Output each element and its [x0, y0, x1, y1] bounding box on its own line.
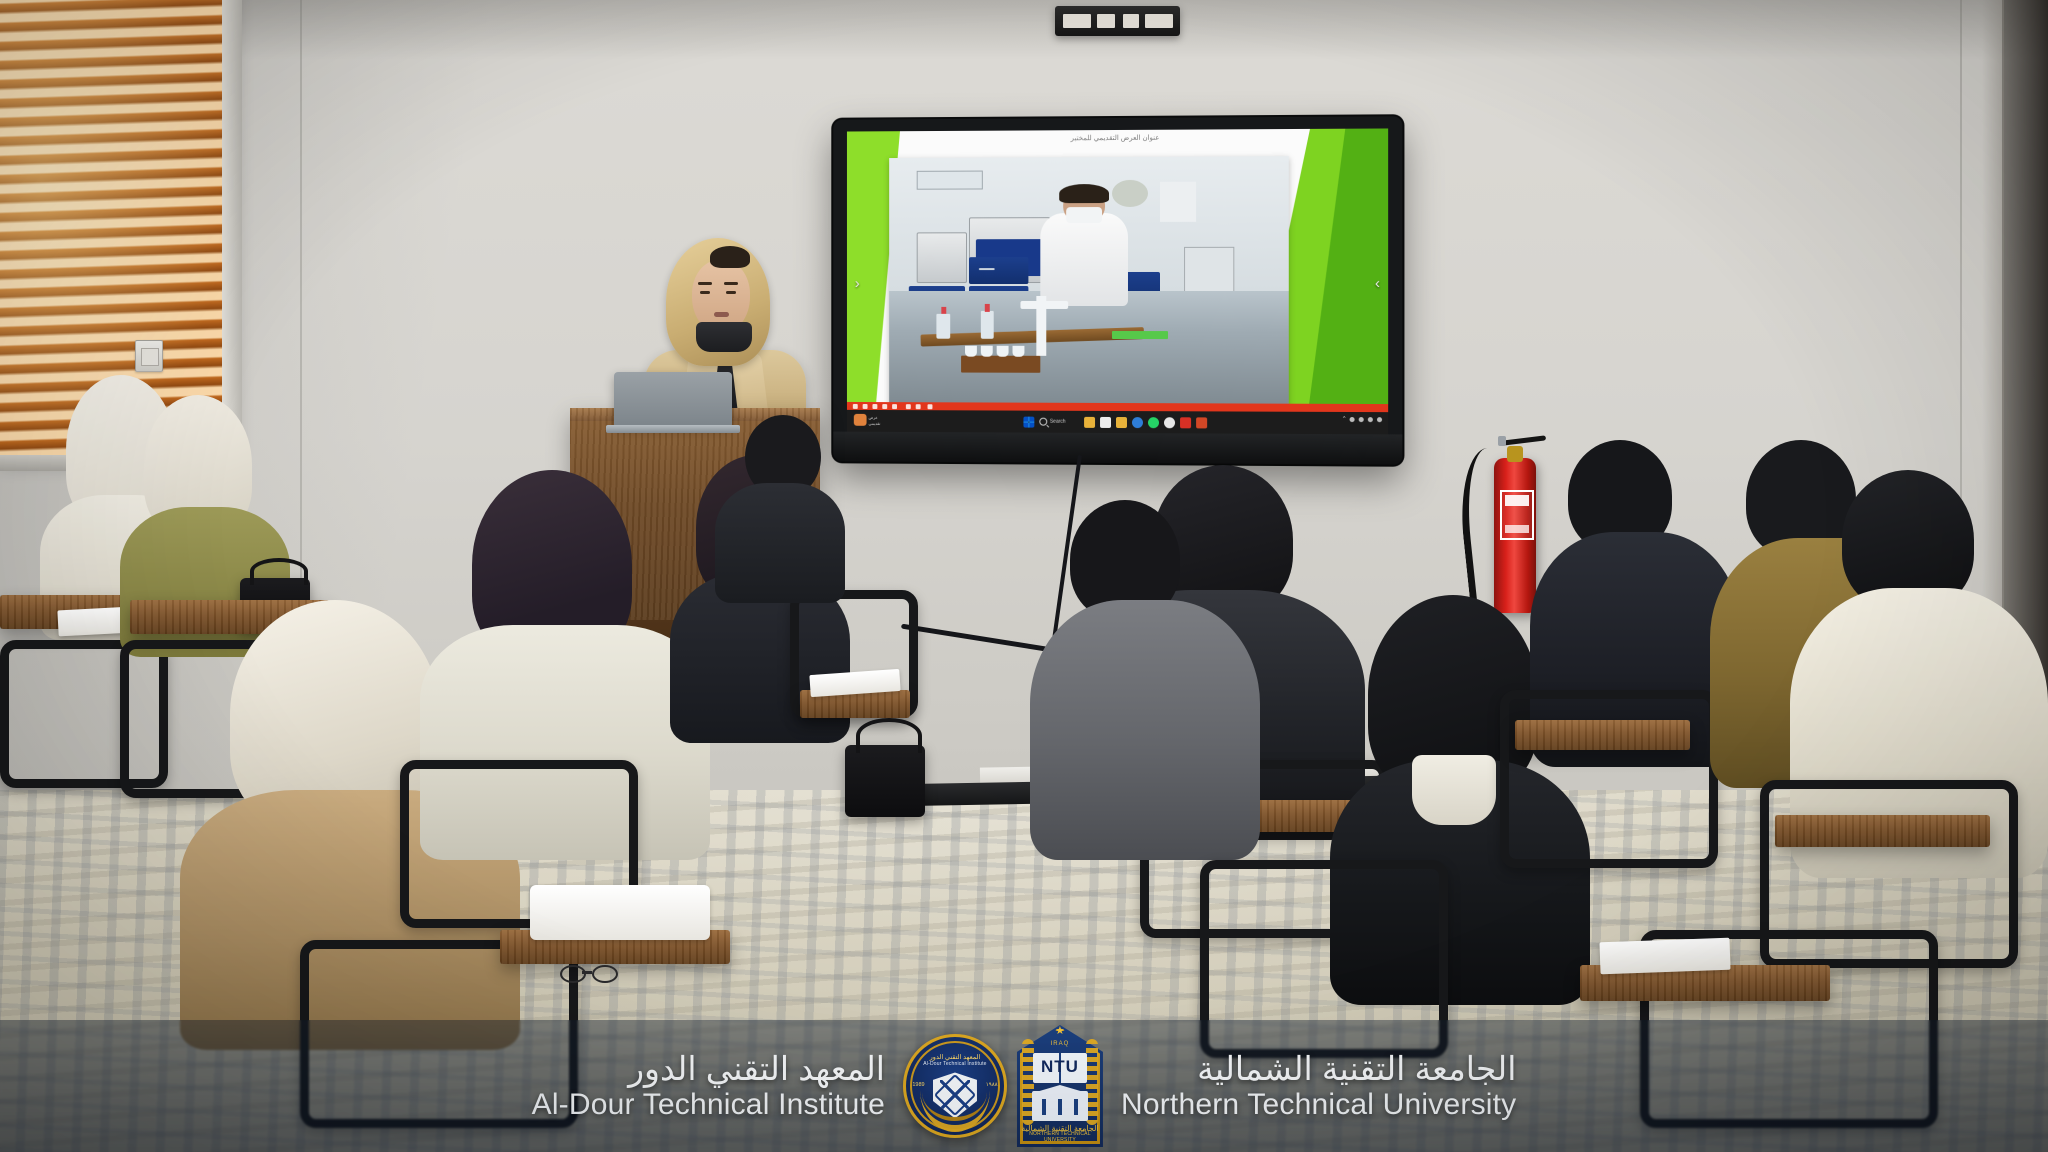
lab-technician [1040, 187, 1128, 306]
slide-laboratory-photo [890, 156, 1290, 406]
seal-english-text: Al-Dour Technical Institute [903, 1061, 1007, 1067]
folder-icon[interactable] [1116, 417, 1127, 428]
seal-year-right: ١٩٨٨ [986, 1082, 998, 1088]
presenter-brow-left [698, 282, 712, 285]
lab-bottle [937, 314, 950, 339]
volume-icon[interactable] [1359, 417, 1364, 422]
university-name-english: Northern Technical University [1121, 1088, 1516, 1122]
extinguisher-label [1500, 490, 1534, 540]
building-column [1074, 1099, 1078, 1115]
lab-instrument-right [1184, 247, 1234, 294]
lab-wall-poster [1160, 182, 1196, 222]
al-dour-technical-institute-seal: المعهد التقني الدور Al-Dour Technical In… [903, 1034, 1007, 1138]
ribbon-icon[interactable] [906, 404, 911, 409]
university-name-arabic: الجامعة التقنية الشمالية [1121, 1051, 1516, 1088]
search-icon [1039, 418, 1047, 426]
presenter-face-mask [696, 322, 752, 352]
building-column [1042, 1099, 1046, 1115]
handbag [845, 745, 925, 817]
northern-technical-university-shield: ★ IRAQ NTU الجامعة التقنية الشمالية NORT… [1017, 1025, 1103, 1147]
lab-green-sample [1112, 331, 1168, 339]
network-icon[interactable] [1350, 417, 1355, 422]
classroom-photo: عنوان العرض التقديمي للمختبر [0, 0, 2048, 1152]
lab-coat [1040, 213, 1128, 306]
slide-title-text: عنوان العرض التقديمي للمختبر [954, 133, 1279, 147]
powerpoint-icon[interactable] [1197, 417, 1208, 428]
windows-taskbar[interactable]: عرض تقديمي Search [847, 402, 1388, 434]
presenter-mouth [714, 312, 729, 317]
presenter-brow-right [724, 282, 738, 285]
bridge [582, 971, 592, 974]
building-column [1058, 1099, 1062, 1115]
test-tube [981, 346, 992, 357]
windows-start-icon[interactable] [1023, 416, 1034, 427]
ceiling-unit-cell [1063, 14, 1091, 28]
search-label: Search [1050, 419, 1066, 425]
student-collar [1412, 755, 1496, 825]
file-explorer-icon[interactable] [1085, 416, 1096, 427]
smart-board-display[interactable]: عنوان العرض التقديمي للمختبر [833, 116, 1402, 464]
lab-wall-sign [917, 170, 982, 190]
lab-instrument [917, 232, 966, 283]
institute-block: المعهد التقني الدور Al-Dour Technical In… [532, 1034, 1007, 1138]
shield-english-text: NORTHERN TECHNICAL UNIVERSITY [1017, 1131, 1103, 1143]
student-center-back-dark [715, 415, 845, 595]
ribbon-icon[interactable] [892, 404, 897, 409]
whatsapp-icon[interactable] [1148, 417, 1159, 428]
student-desk [1515, 720, 1690, 750]
ribbon-icon[interactable] [916, 404, 921, 409]
student-desk [1775, 815, 1990, 847]
presenter-eye-right [726, 291, 736, 294]
technician-hair [1059, 184, 1108, 203]
university-text: الجامعة التقنية الشمالية Northern Techni… [1121, 1051, 1516, 1122]
cabinet-handle [979, 268, 994, 270]
test-tube [965, 346, 976, 357]
ceiling-mounted-unit [1055, 6, 1180, 36]
display-bezel-bottom [833, 432, 1402, 465]
test-tube [997, 346, 1008, 357]
ceiling-shadow [0, 0, 2048, 60]
lens-left [560, 965, 586, 983]
institute-text: المعهد التقني الدور Al-Dour Technical In… [532, 1051, 885, 1122]
institute-name-english: Al-Dour Technical Institute [532, 1088, 885, 1122]
institution-banner: المعهد التقني الدور Al-Dour Technical In… [0, 1020, 2048, 1152]
building-icon [1032, 1091, 1088, 1121]
lab-bottle [980, 311, 993, 338]
powerpoint-ribbon [847, 402, 1388, 412]
ceiling-unit-cell [1145, 14, 1173, 28]
lab-bench-top [890, 291, 1290, 406]
chrome-icon[interactable] [1164, 417, 1175, 428]
taskbar-center-group: Search [847, 412, 1388, 432]
ribbon-icon[interactable] [928, 404, 933, 409]
shield-country-label: IRAQ [1017, 1041, 1103, 1047]
ribbon-icon[interactable] [872, 404, 877, 409]
student-torso [715, 483, 845, 603]
chair-frame [1500, 690, 1718, 868]
lab-clamp [1020, 301, 1068, 308]
shield-monogram: NTU [1017, 1057, 1103, 1076]
institute-name-arabic: المعهد التقني الدور [532, 1051, 885, 1088]
student-torso [1030, 600, 1260, 860]
taskbar-search[interactable]: Search [1039, 418, 1066, 426]
notebook-papers [530, 885, 710, 940]
eyeglasses [560, 965, 616, 981]
ceiling-unit-cell [1123, 14, 1139, 28]
seal-year-left: 1989 [912, 1082, 924, 1088]
ribbon-icon[interactable] [853, 403, 858, 408]
seal-arabic-text: المعهد التقني الدور [903, 1053, 1007, 1061]
pdf-icon[interactable] [1180, 417, 1191, 428]
wall-light-switch[interactable] [135, 340, 163, 372]
presenter-eye-left [700, 291, 710, 294]
lab-test-tube-rack [961, 356, 1040, 374]
word-icon[interactable] [1100, 416, 1111, 427]
ribbon-icon[interactable] [863, 403, 868, 408]
university-block: ★ IRAQ NTU الجامعة التقنية الشمالية NORT… [1017, 1025, 1516, 1147]
display-screen: عنوان العرض التقديمي للمختبر [847, 128, 1388, 434]
lens-right [592, 965, 618, 983]
test-tube [1013, 346, 1024, 357]
star-icon: ★ [1055, 1026, 1065, 1037]
extinguisher-safety-pin [1498, 436, 1506, 446]
lab-cabinet [969, 257, 1029, 284]
ceiling-unit-cell [1097, 14, 1115, 28]
student-right-grey-coat [1030, 500, 1260, 860]
technician-face-mask [1066, 207, 1101, 223]
presenter-hair [710, 246, 750, 268]
chevron-up-icon[interactable]: ^ [1343, 416, 1345, 422]
battery-icon[interactable] [1368, 417, 1373, 422]
slide-prev-arrow-icon[interactable]: › [855, 276, 860, 291]
slide-next-arrow-icon[interactable]: ‹ [1375, 276, 1380, 291]
ribbon-icon[interactable] [882, 404, 887, 409]
notification-icon[interactable] [1377, 417, 1382, 422]
notebook-papers [1599, 938, 1730, 975]
extinguisher-valve [1507, 446, 1523, 462]
system-tray[interactable]: ^ [1343, 416, 1382, 422]
edge-icon[interactable] [1132, 417, 1143, 428]
